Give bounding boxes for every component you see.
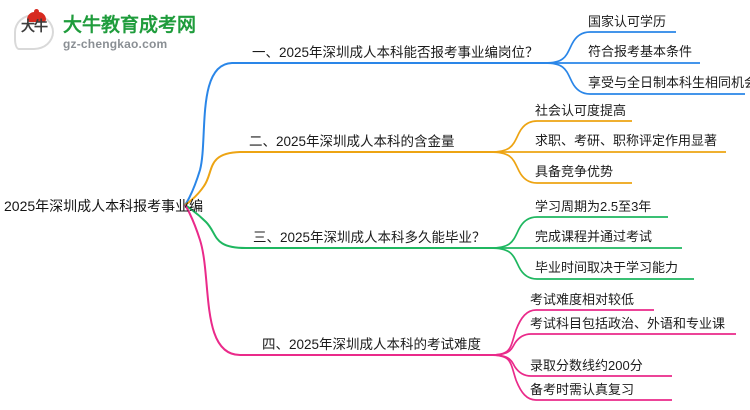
mindmap-branch-node-2[interactable]: 二、2025年深圳成人本科的含金量 — [249, 135, 455, 149]
branch-line-4 — [185, 205, 490, 355]
mindmap-leaf-node-3-1[interactable]: 学习周期为2.5至3年 — [535, 200, 651, 213]
mindmap-leaf-node-4-4[interactable]: 备考时需认真复习 — [530, 383, 634, 396]
logo-speech-bubble-icon: 大牛 — [14, 12, 56, 54]
logo-subtitle: gz-chengkao.com — [63, 37, 196, 51]
mindmap-branch-node-3[interactable]: 三、2025年深圳成人本科多久能毕业？ — [253, 231, 486, 245]
mindmap-branch-node-4[interactable]: 四、2025年深圳成人本科的考试难度 — [262, 338, 481, 352]
mindmap-leaf-node-1-2[interactable]: 符合报考基本条件 — [588, 45, 692, 58]
logo-text-block: 大牛教育成考网 gz-chengkao.com — [63, 15, 196, 51]
logo-mark-text: 大牛 — [14, 19, 54, 49]
mindmap-leaf-node-1-3[interactable]: 享受与全日制本科生相同机会 — [588, 76, 750, 89]
mindmap-branch-node-1[interactable]: 一、2025年深圳成人本科能否报考事业编岗位？ — [252, 46, 539, 60]
leaf-line-4-2 — [490, 334, 736, 355]
mindmap-leaf-node-2-2[interactable]: 求职、考研、职称评定作用显著 — [535, 134, 717, 147]
mindmap-leaf-node-4-3[interactable]: 录取分数线约200分 — [530, 359, 643, 372]
mindmap-root-node[interactable]: 2025年深圳成人本科报考事业编 — [4, 199, 203, 213]
mindmap-leaf-node-3-3[interactable]: 毕业时间取决于学习能力 — [535, 261, 678, 274]
site-logo: 大牛 大牛教育成考网 gz-chengkao.com — [14, 10, 192, 56]
branch-line-2 — [185, 152, 490, 205]
mindmap-leaf-node-3-2[interactable]: 完成课程并通过考试 — [535, 230, 652, 243]
mindmap-leaf-node-2-1[interactable]: 社会认可度提高 — [535, 104, 626, 117]
mindmap-leaf-node-2-3[interactable]: 具备竞争优势 — [535, 165, 613, 178]
logo-title: 大牛教育成考网 — [63, 15, 196, 37]
mindmap-leaf-node-4-2[interactable]: 考试科目包括政治、外语和专业课 — [530, 317, 725, 330]
mindmap-leaf-node-4-1[interactable]: 考试难度相对较低 — [530, 293, 634, 306]
mindmap-leaf-node-1-1[interactable]: 国家认可学历 — [588, 15, 666, 28]
